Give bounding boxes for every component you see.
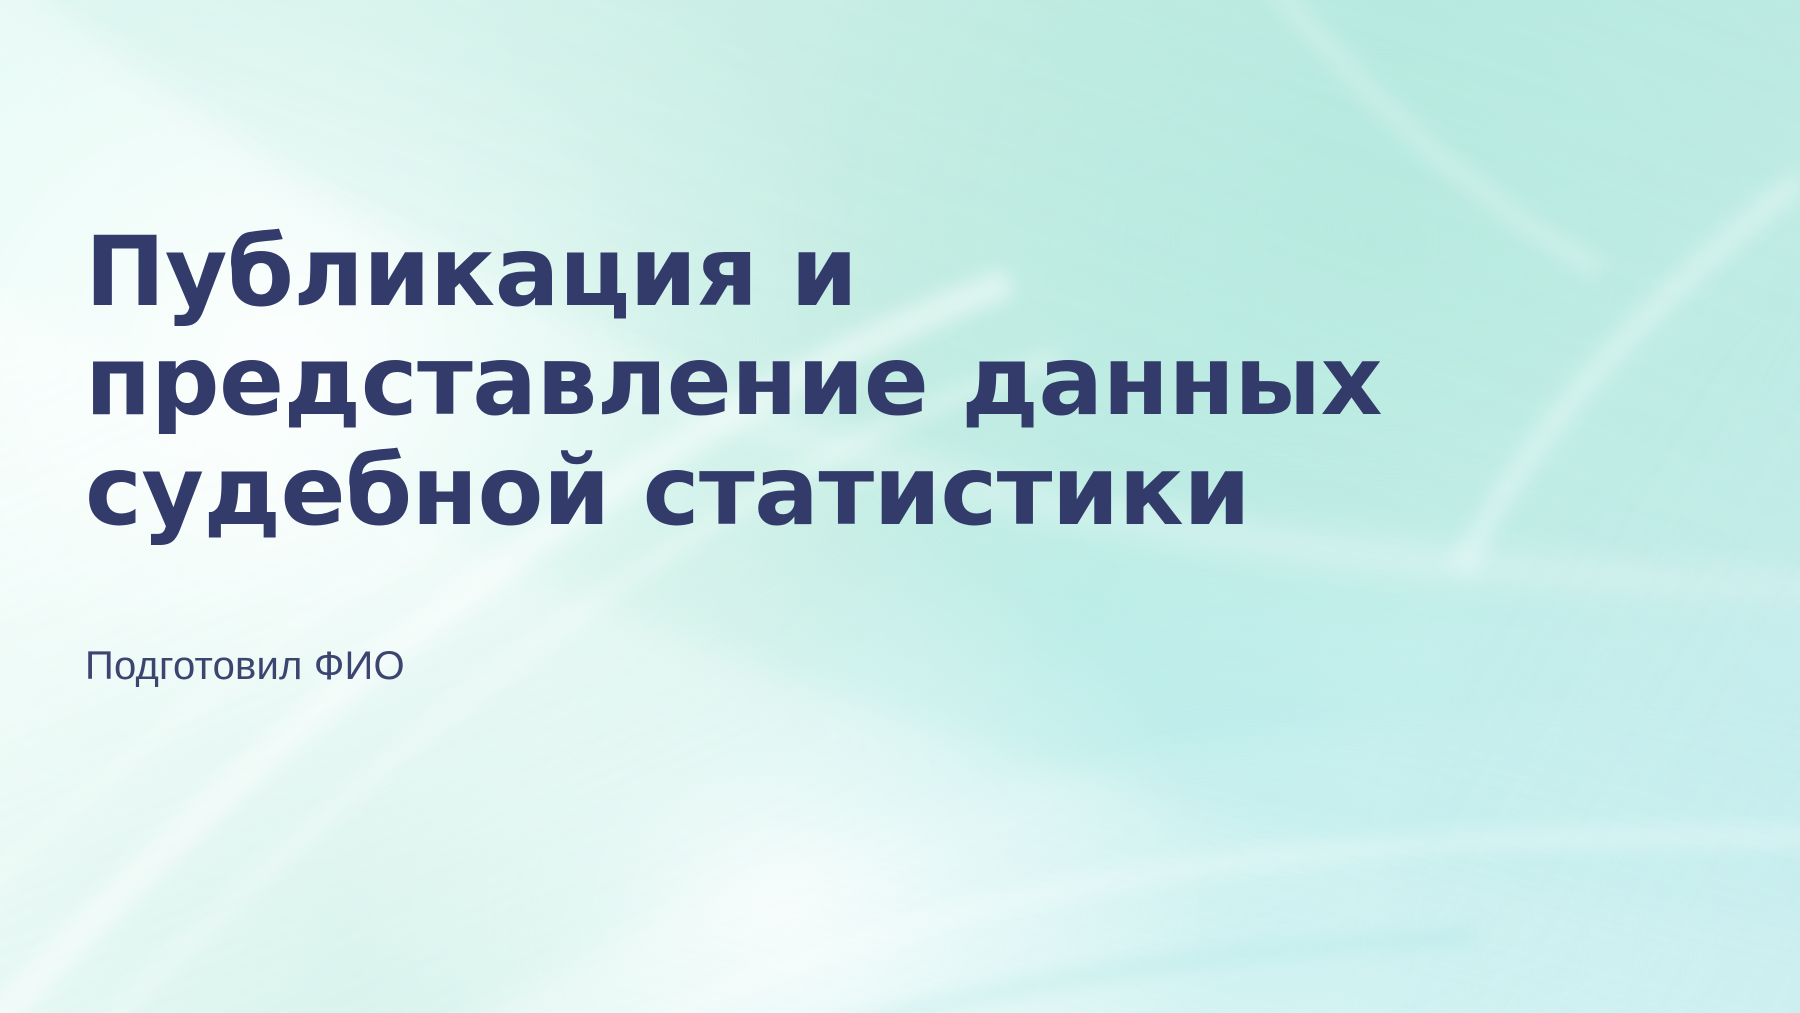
page-title: Публикация и представление данных судебн… [85, 218, 1505, 546]
slide-subtitle-author: Подготовил ФИО [85, 642, 1505, 690]
title-slide: Публикация и представление данных судебн… [0, 0, 1800, 1013]
slide-content: Публикация и представление данных судебн… [85, 218, 1505, 690]
